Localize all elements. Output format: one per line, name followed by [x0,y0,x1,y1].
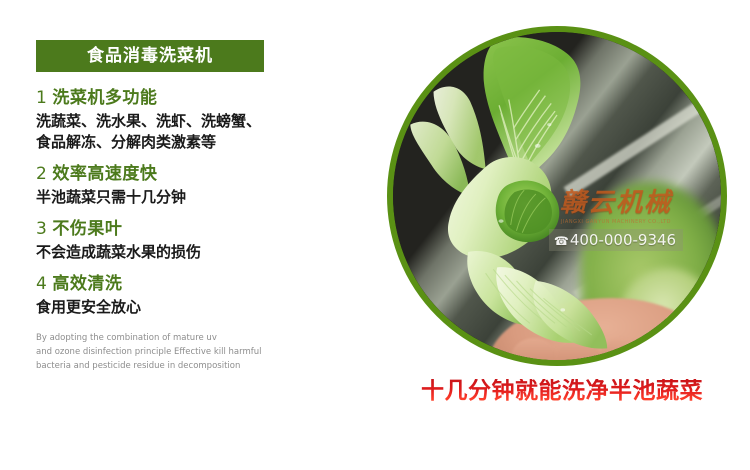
watermark-subtitle: JIANGXI GANYUN MACHINERY CO.,LTD [521,219,711,225]
english-line-3: bacteria and pesticide residue in decomp… [36,360,271,374]
feature-2-number: 2 [36,164,47,184]
feature-2-title: 效率高速度快 [52,164,157,184]
feature-item-3: 3不伤果叶 不会造成蔬菜水果的损伤 [36,217,356,263]
phone-icon: ☎ [554,234,569,248]
watermark: 赣云机械 JIANGXI GANYUN MACHINERY CO.,LTD ☎4… [521,190,711,251]
product-photo: 赣云机械 JIANGXI GANYUN MACHINERY CO.,LTD ☎4… [393,32,721,360]
feature-3-number: 3 [36,219,47,239]
title-banner: 食品消毒洗菜机 [36,40,264,72]
feature-3-heading: 3不伤果叶 [36,217,356,242]
english-description: By adopting the combination of mature uv… [36,332,271,373]
feature-2-heading: 2效率高速度快 [36,162,356,187]
english-line-2: and ozone disinfection principle Effecti… [36,346,271,360]
feature-2-body: 半池蔬菜只需十几分钟 [36,187,356,208]
feature-2-line-1: 半池蔬菜只需十几分钟 [36,187,356,208]
feature-item-4: 4高效清洗 食用更安全放心 [36,272,356,318]
feature-1-heading: 1洗菜机多功能 [36,86,356,111]
feature-1-body: 洗蔬菜、洗水果、洗虾、洗螃蟹、 食品解冻、分解肉类激素等 [36,111,356,154]
feature-3-title: 不伤果叶 [52,219,122,239]
watermark-phone-text: ☎400-000-9346 [554,231,676,249]
page-title: 食品消毒洗菜机 [87,48,213,65]
feature-item-2: 2效率高速度快 半池蔬菜只需十几分钟 [36,162,356,208]
feature-4-title: 高效清洗 [52,274,122,294]
english-line-1: By adopting the combination of mature uv [36,332,271,346]
feature-1-line-2: 食品解冻、分解肉类激素等 [36,132,356,153]
feature-1-line-1: 洗蔬菜、洗水果、洗虾、洗螃蟹、 [36,111,356,132]
feature-4-number: 4 [36,274,47,294]
feature-3-body: 不会造成蔬菜水果的损伤 [36,242,356,263]
feature-text-column: 食品消毒洗菜机 1洗菜机多功能 洗蔬菜、洗水果、洗虾、洗螃蟹、 食品解冻、分解肉… [36,40,356,373]
watermark-phone-number: 400-000-9346 [570,231,676,249]
feature-4-body: 食用更安全放心 [36,297,356,318]
watermark-brand: 赣云机械 [521,190,711,216]
feature-3-line-1: 不会造成蔬菜水果的损伤 [36,242,356,263]
feature-4-heading: 4高效清洗 [36,272,356,297]
product-photo-circle: 赣云机械 JIANGXI GANYUN MACHINERY CO.,LTD ☎4… [387,26,727,366]
watermark-phone-box: ☎400-000-9346 [549,229,683,251]
feature-4-line-1: 食用更安全放心 [36,297,356,318]
promo-page: 食品消毒洗菜机 1洗菜机多功能 洗蔬菜、洗水果、洗虾、洗螃蟹、 食品解冻、分解肉… [0,0,750,470]
feature-item-1: 1洗菜机多功能 洗蔬菜、洗水果、洗虾、洗螃蟹、 食品解冻、分解肉类激素等 [36,86,356,153]
feature-1-number: 1 [36,88,47,108]
feature-1-title: 洗菜机多功能 [52,88,157,108]
red-caption: 十几分钟就能洗净半池蔬菜 [407,379,717,404]
